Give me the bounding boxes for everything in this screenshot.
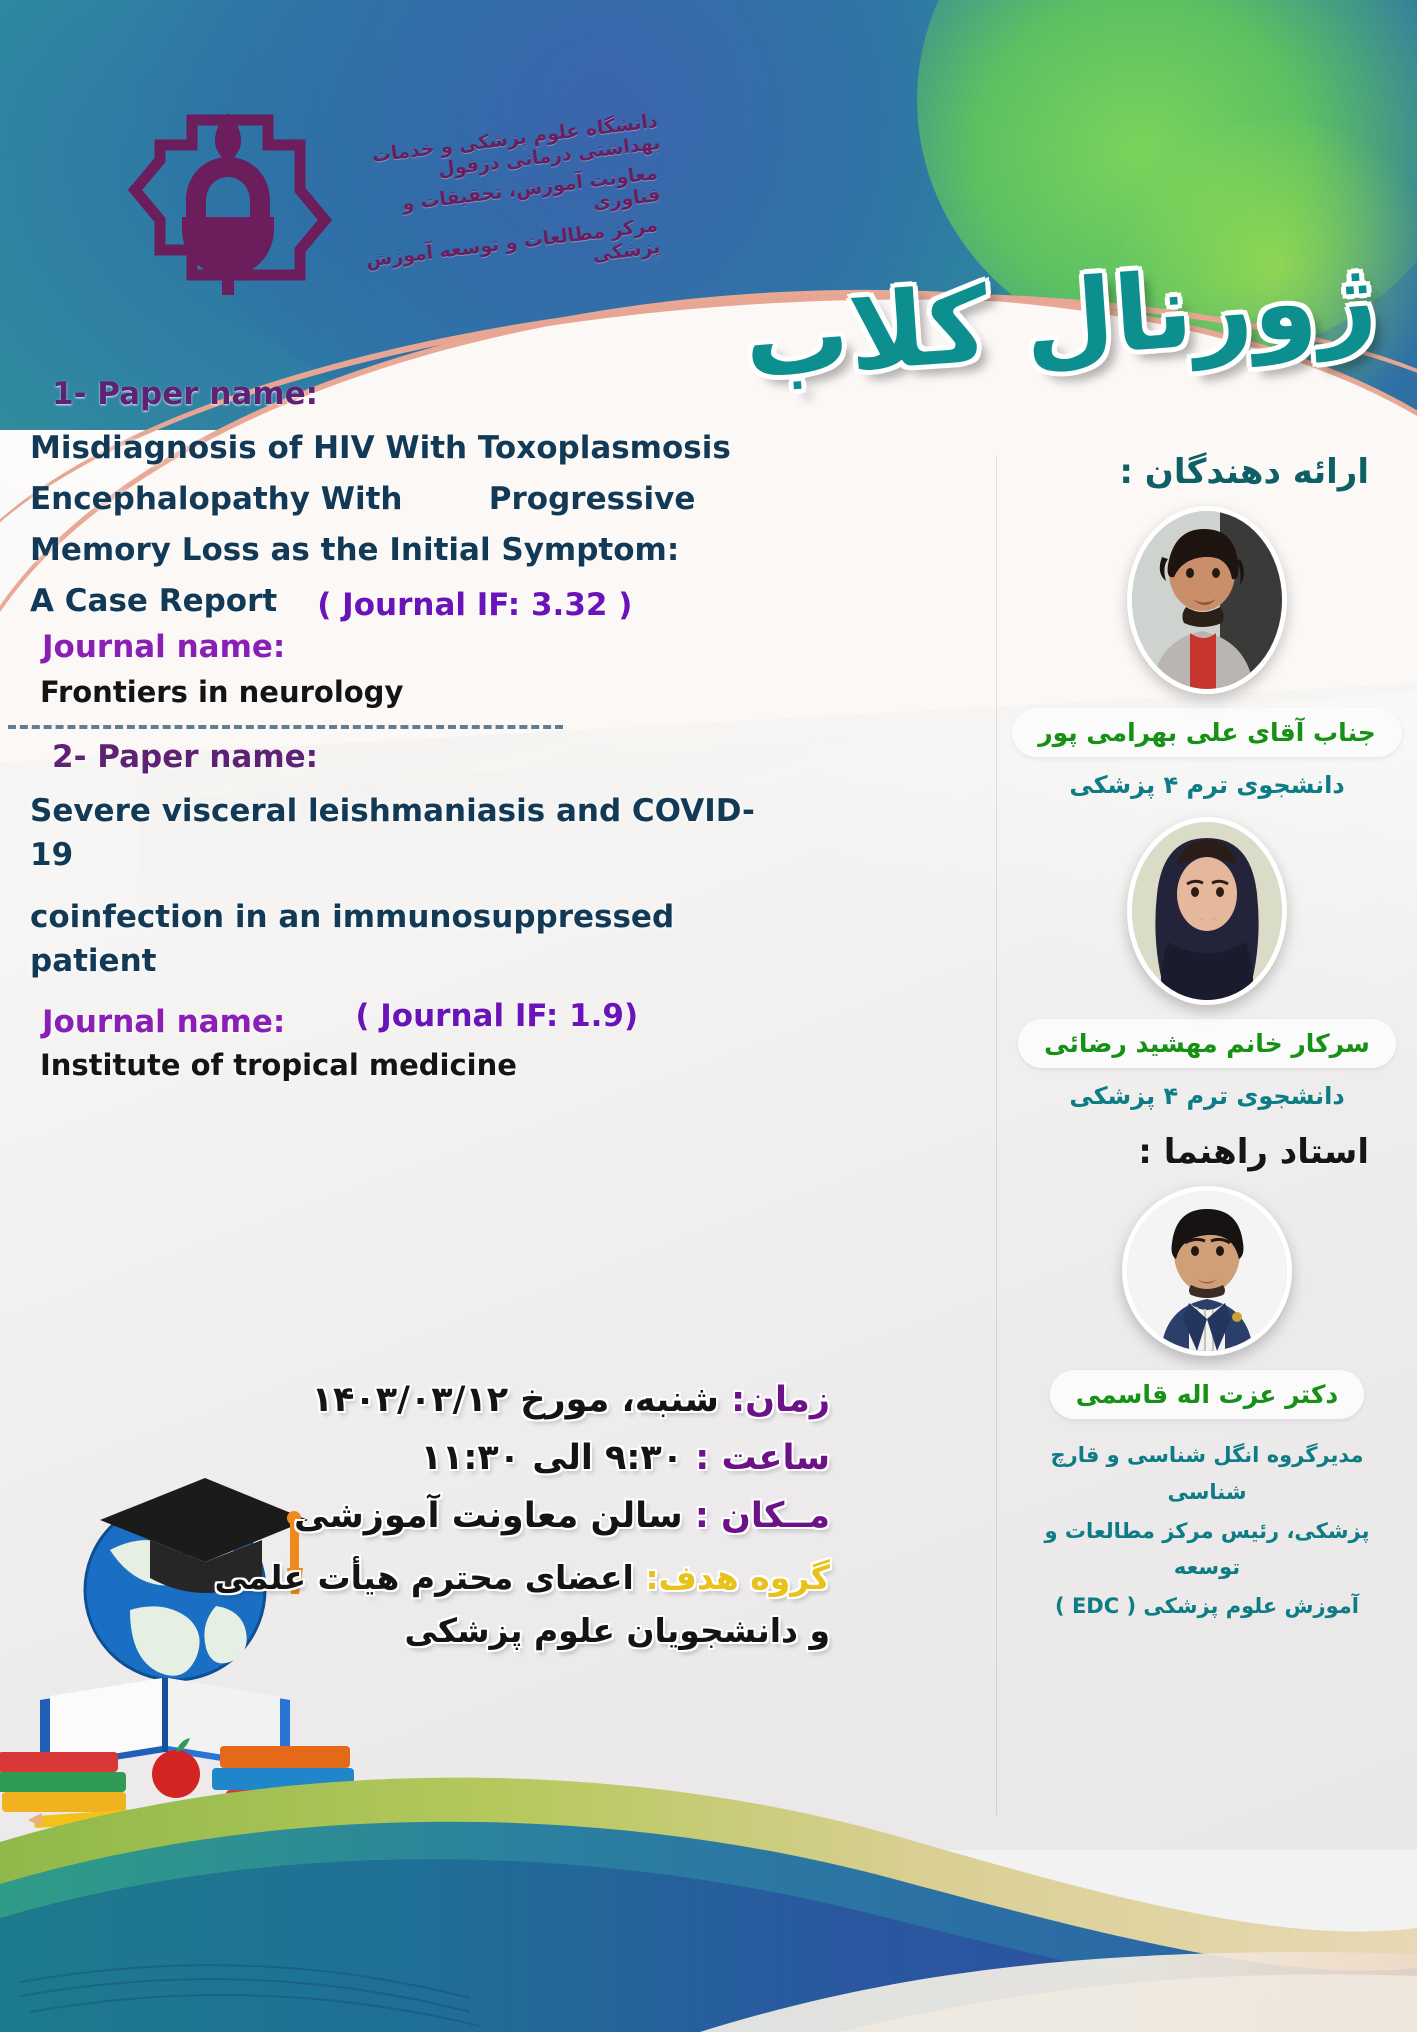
paper-1-title-line-4: A Case Report [30, 579, 277, 623]
paper-1-title-line-3: Memory Loss as the Initial Symptom: [30, 528, 780, 572]
presenter-1-role: دانشجوی ترم ۴ پزشکی [997, 771, 1417, 799]
event-target-label: گروه هدف: [645, 1558, 830, 1597]
paper-1-title-last-row: A Case Report ( Journal IF: 3.32 ) [30, 579, 780, 623]
presenter-card-2: سرکار خانم مهشید رضائی دانشجوی ترم ۴ پزش… [997, 817, 1417, 1110]
paper-2-title-line-2: coinfection in an immunosuppressed patie… [30, 895, 780, 983]
paper-1-impact-factor: ( Journal IF: 3.32 ) [317, 587, 632, 623]
event-date-label: زمان: [731, 1380, 830, 1420]
event-time-label: ساعت : [695, 1438, 830, 1478]
paper-2-title: Severe visceral leishmaniasis and COVID-… [30, 789, 780, 983]
event-venue-row: مــکان : سالن معاونت آموزشی [30, 1496, 830, 1536]
presenter-2-role: دانشجوی ترم ۴ پزشکی [997, 1082, 1417, 1110]
presenter-1-avatar [1127, 506, 1287, 694]
people-sidebar: ارائه دهندگان : [997, 430, 1417, 1625]
event-target-value-line-2: و دانشجویان علوم پزشکی [30, 1611, 830, 1650]
supervisor-credential-line-1: مدیرگروه انگل شناسی و قارچ شناسی [997, 1437, 1417, 1511]
organization-name-block: دانشگاه علوم پزشکی و خدمات بهداشتی درمان… [330, 130, 660, 290]
supervisor-credential-line-3: آموزش علوم پزشکی ( EDC ) [997, 1588, 1417, 1625]
event-venue-label: مــکان : [695, 1496, 830, 1536]
paper-2-impact-factor: ( Journal IF: 1.9) [355, 998, 638, 1034]
paper-2-title-line-1: Severe visceral leishmaniasis and COVID-… [30, 789, 780, 877]
papers-separator [8, 725, 563, 729]
footer-decorative-wave [0, 1732, 1417, 2032]
presenter-1-name: جناب آقای علی بهرامی پور [1012, 708, 1402, 757]
paper-1-number-label: 1- Paper name: [52, 376, 780, 412]
event-target-value-line-1: اعضای محترم هیأت علمی [215, 1558, 634, 1597]
journal-club-poster: دانشگاه علوم پزشکی و خدمات بهداشتی درمان… [0, 0, 1417, 2032]
paper-2-number-label: 2- Paper name: [52, 739, 780, 775]
supervisor-avatar [1122, 1186, 1292, 1356]
presenters-heading: ارائه دهندگان : [997, 452, 1389, 492]
event-details-block: زمان: شنبه، مورخ ۱۴۰۳/۰۳/۱۲ ساعت : ۹:۳۰ … [0, 1380, 830, 1650]
paper-1-title-line-2: Encephalopathy With Progressive [30, 477, 780, 521]
supervisor-heading: استاد راهنما : [997, 1132, 1389, 1172]
paper-2-journal-row: Journal name: ( Journal IF: 1.9) [30, 990, 780, 1048]
paper-1-journal-name: Frontiers in neurology [40, 675, 780, 709]
dezful-medical-university-logo-icon [120, 95, 340, 295]
supervisor-card: دکتر عزت اله قاسمی مدیرگروه انگل شناسی و… [997, 1186, 1417, 1625]
event-time-row: ساعت : ۹:۳۰ الی ۱۱:۳۰ [30, 1438, 830, 1478]
paper-1-title: Misdiagnosis of HIV With Toxoplasmosis E… [30, 426, 780, 572]
supervisor-credential-line-2: پزشکی، رئیس مرکز مطالعات و توسعه [997, 1513, 1417, 1587]
supervisor-photo [1127, 1191, 1287, 1351]
event-venue-value: سالن معاونت آموزشی [294, 1496, 683, 1536]
event-date-value: شنبه، مورخ ۱۴۰۳/۰۳/۱۲ [312, 1380, 719, 1420]
paper-2-journal-name: Institute of tropical medicine [40, 1048, 780, 1082]
presenter-card-1: جناب آقای علی بهرامی پور دانشجوی ترم ۴ پ… [997, 506, 1417, 799]
university-logo [120, 95, 340, 295]
presenter-2-photo [1132, 822, 1282, 1000]
event-date-row: زمان: شنبه، مورخ ۱۴۰۳/۰۳/۱۲ [30, 1380, 830, 1420]
paper-entry-1: 1- Paper name: Misdiagnosis of HIV With … [0, 376, 800, 709]
event-target-row: گروه هدف: اعضای محترم هیأت علمی [30, 1558, 830, 1597]
footer-wave-graphic [0, 1732, 1417, 2032]
paper-1-title-line-1: Misdiagnosis of HIV With Toxoplasmosis [30, 426, 780, 470]
paper-1-journal-label: Journal name: [42, 629, 780, 665]
supervisor-name: دکتر عزت اله قاسمی [1050, 1370, 1365, 1419]
paper-entry-2: 2- Paper name: Severe visceral leishmani… [0, 739, 800, 1082]
presenter-1-photo [1132, 511, 1282, 689]
event-time-value: ۹:۳۰ الی ۱۱:۳۰ [421, 1438, 683, 1478]
presenter-2-name: سرکار خانم مهشید رضائی [1018, 1019, 1396, 1068]
papers-column: 1- Paper name: Misdiagnosis of HIV With … [0, 376, 800, 1090]
presenter-2-avatar [1127, 817, 1287, 1005]
paper-2-journal-label: Journal name: [42, 1004, 285, 1040]
